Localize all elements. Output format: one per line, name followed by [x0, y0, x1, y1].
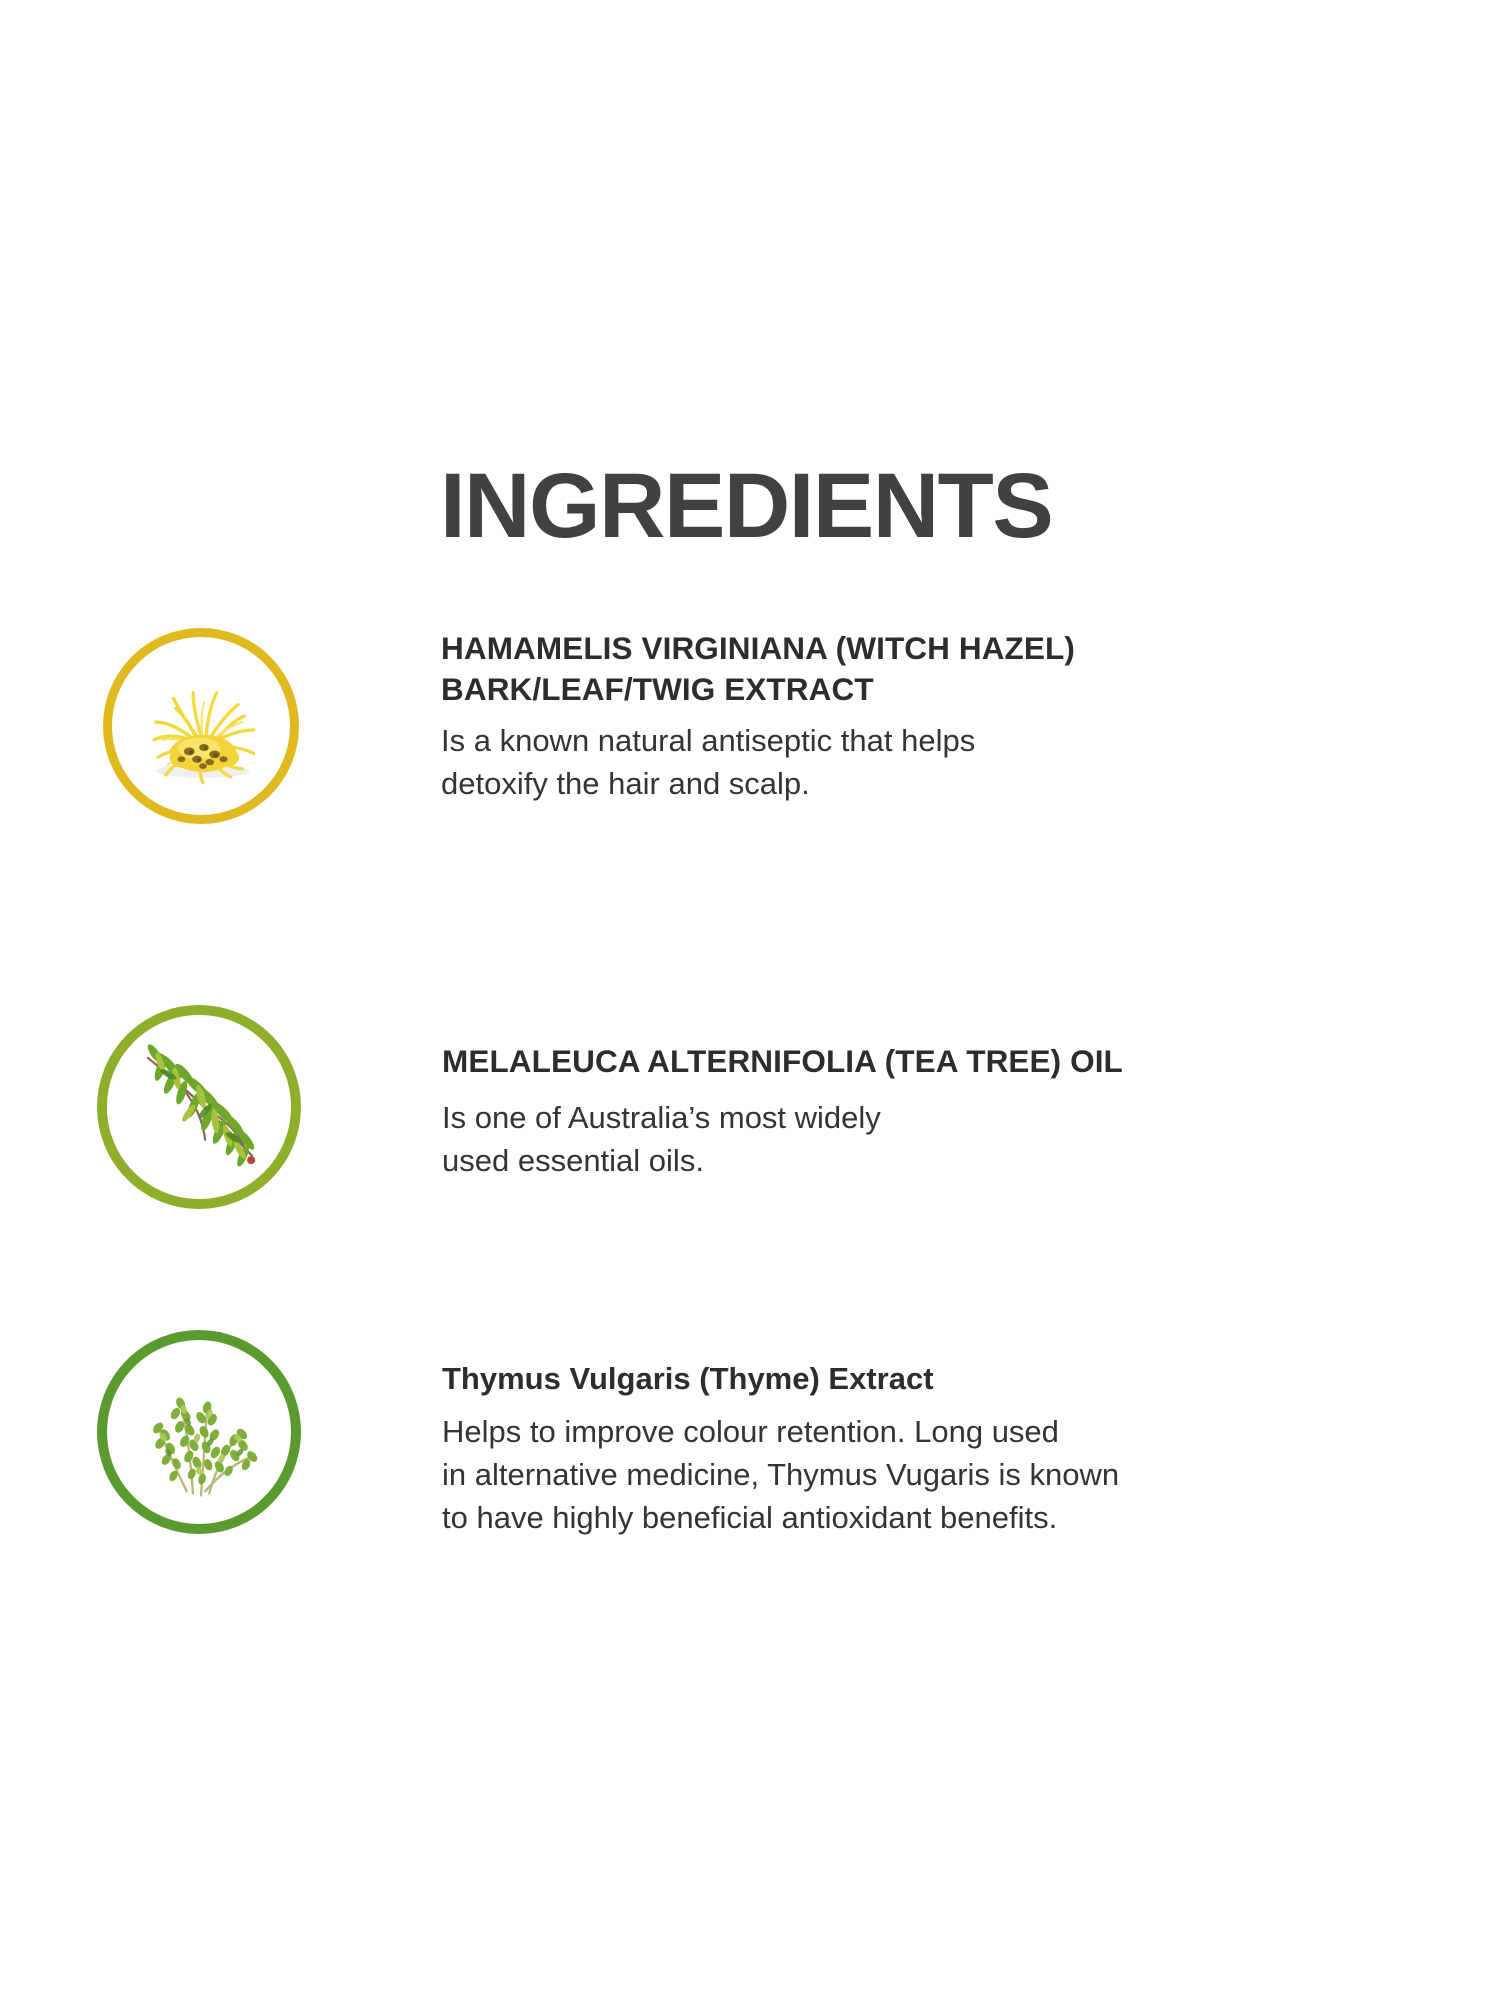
ingredient-heading: HAMAMELIS VIRGINIANA (WITCH HAZEL) BARK/… [441, 628, 1321, 710]
ingredient-badge-witch-hazel [103, 628, 299, 824]
tea-tree-branch-icon [107, 1015, 291, 1199]
ingredient-badge-thyme [97, 1330, 301, 1534]
ingredient-text: Thymus Vulgaris (Thyme) Extract Helps to… [442, 1358, 1500, 1539]
ingredient-description: Is one of Australia’s most widely used e… [442, 1096, 1342, 1182]
ingredient-text: HAMAMELIS VIRGINIANA (WITCH HAZEL) BARK/… [441, 628, 1500, 805]
witch-hazel-flower-icon [113, 638, 289, 814]
ingredient-text: MELALEUCA ALTERNIFOLIA (TEA TREE) OIL Is… [442, 1041, 1500, 1182]
thyme-sprig-icon [107, 1340, 291, 1524]
page-title: INGREDIENTS [440, 458, 1052, 555]
ingredients-page: INGREDIENTS [0, 0, 1500, 2000]
ingredient-row: MELALEUCA ALTERNIFOLIA (TEA TREE) OIL Is… [0, 1005, 1500, 1209]
ingredient-badge-tea-tree [97, 1005, 301, 1209]
ingredient-description: Is a known natural antiseptic that helps… [441, 719, 1341, 805]
ingredient-row: Thymus Vulgaris (Thyme) Extract Helps to… [0, 1330, 1500, 1539]
ingredient-row: HAMAMELIS VIRGINIANA (WITCH HAZEL) BARK/… [0, 628, 1500, 824]
ingredient-heading: Thymus Vulgaris (Thyme) Extract [442, 1358, 1322, 1399]
ingredient-heading: MELALEUCA ALTERNIFOLIA (TEA TREE) OIL [442, 1041, 1322, 1082]
ingredient-description: Helps to improve colour retention. Long … [442, 1410, 1342, 1539]
